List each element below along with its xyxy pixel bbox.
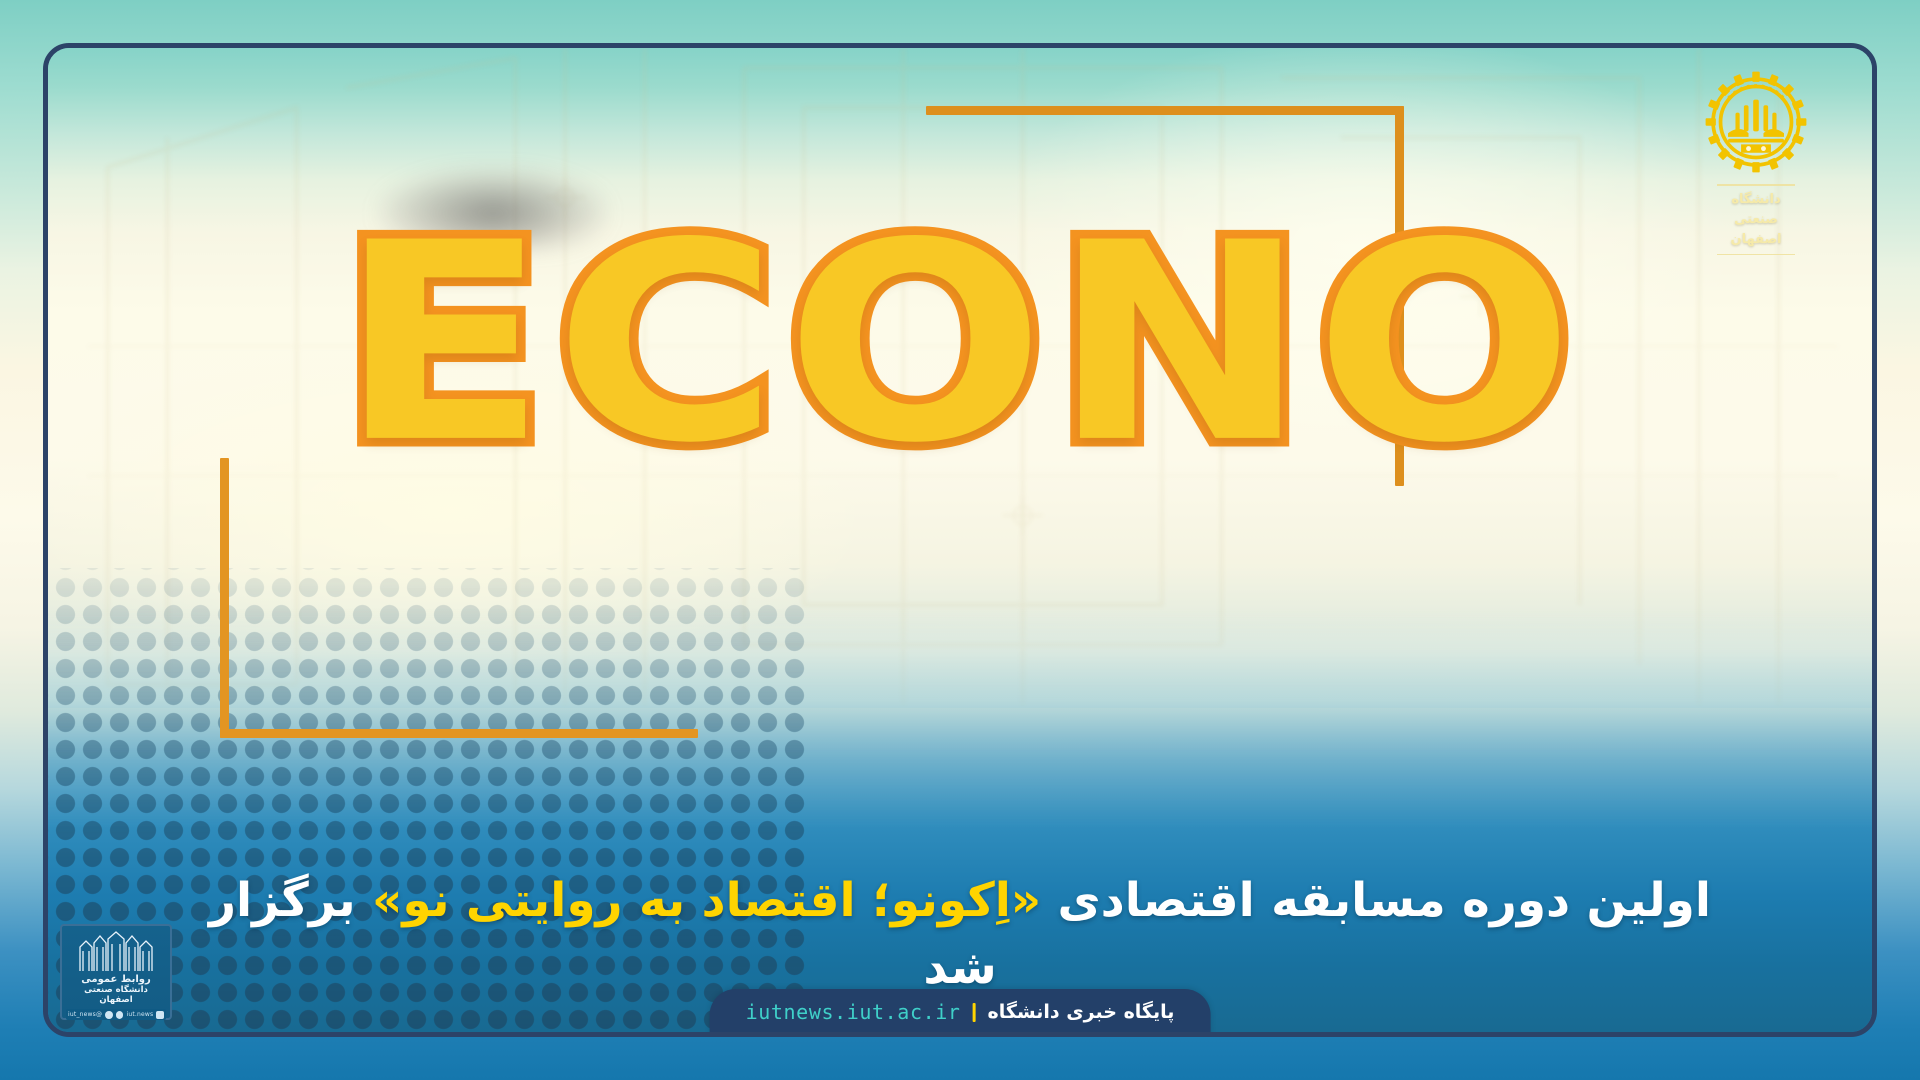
headline: اولین دوره مسابقه اقتصادی «اِکونو؛ اقتصا… — [168, 868, 1752, 1001]
instagram-icon[interactable] — [156, 1011, 164, 1019]
footer-separator — [973, 1003, 976, 1022]
pr-logo-title: روابط عمومی — [66, 974, 166, 985]
pr-social-handle-right: @iut_news — [68, 1011, 102, 1018]
bracket-bottom-left — [220, 458, 698, 738]
whatsapp-icon[interactable] — [105, 1011, 113, 1019]
photo-smudge — [378, 168, 608, 250]
telegram-icon[interactable] — [116, 1011, 124, 1019]
pr-social-row[interactable]: iut.news @iut_news — [66, 1009, 166, 1020]
bracket-top-right — [926, 106, 1404, 486]
university-logo-name: دانشگاه صنعتی اصفهان — [1692, 184, 1820, 255]
logo-rule-top — [1717, 184, 1795, 186]
poster-root: ECONO — [0, 0, 1920, 1080]
footer-site-label: پایگاه خبری دانشگاه — [988, 1001, 1175, 1023]
framed-card: ECONO — [43, 43, 1877, 1037]
university-name-line2: صنعتی — [1692, 210, 1820, 230]
gear-emblem-icon — [1700, 66, 1812, 178]
logo-rule-bottom — [1717, 254, 1795, 256]
university-name-line1: دانشگاه — [1692, 190, 1820, 210]
pr-social-handle-left: iut.news — [126, 1011, 153, 1018]
footer-site-pill[interactable]: پایگاه خبری دانشگاه iutnews.iut.ac.ir — [710, 989, 1211, 1037]
headline-quoted-title: «اِکونو؛ اقتصاد به روایتی نو» — [372, 873, 1041, 928]
columns-building-icon — [66, 931, 166, 971]
footer-site-url[interactable]: iutnews.iut.ac.ir — [746, 1000, 961, 1024]
public-relations-logo: روابط عمومی دانشگاه صنعتی اصفهان iut.new… — [60, 924, 172, 1020]
pr-logo-subtitle: دانشگاه صنعتی اصفهان — [66, 985, 166, 1005]
headline-part1: اولین دوره مسابقه اقتصادی — [1041, 873, 1711, 928]
university-name-line3: اصفهان — [1692, 230, 1820, 250]
chehel-sotoun-columns-icon — [76, 931, 156, 971]
university-logo: دانشگاه صنعتی اصفهان — [1692, 66, 1820, 259]
